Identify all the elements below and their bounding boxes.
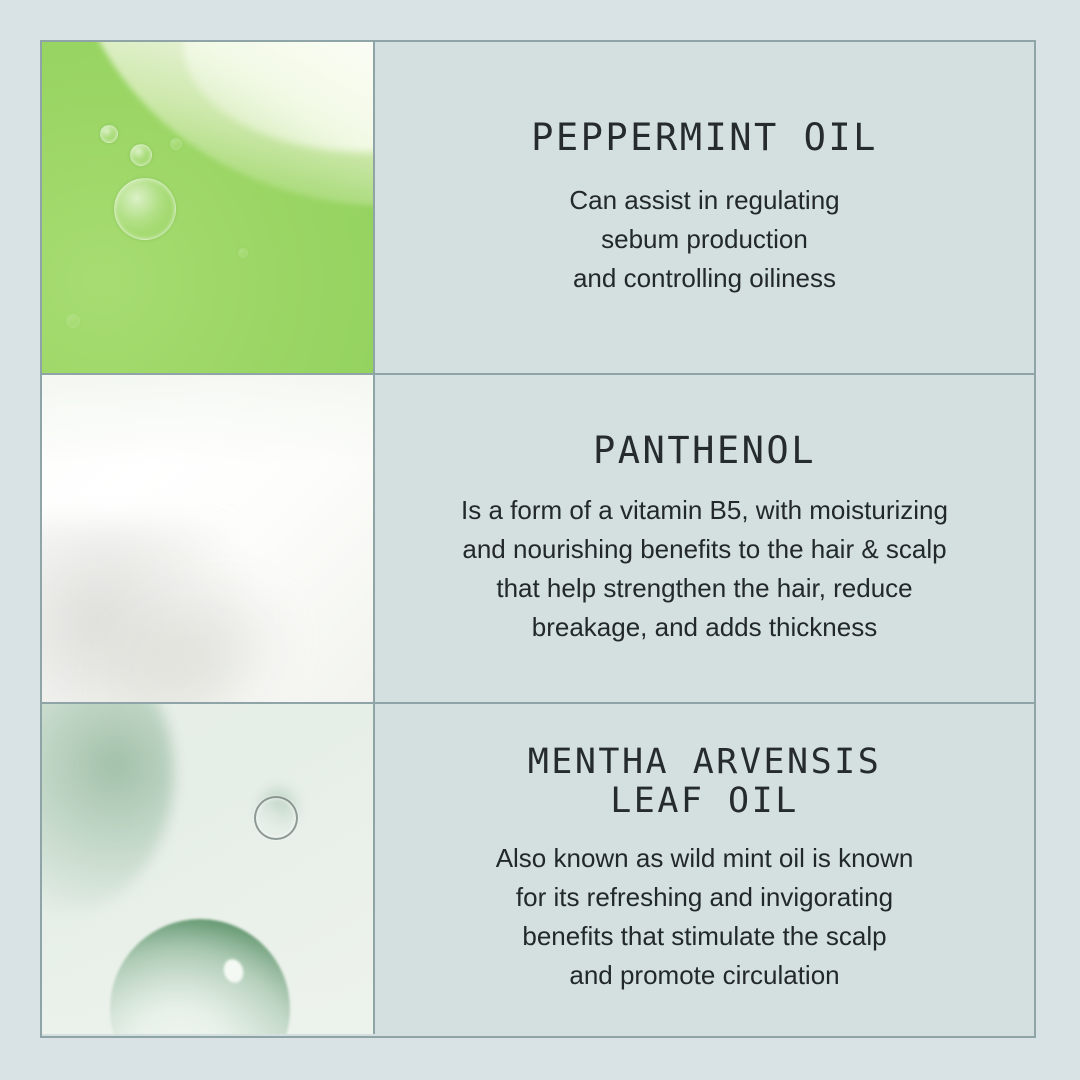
bubble-icon-faint-2: [238, 248, 248, 258]
bubble-icon-small: [100, 125, 118, 143]
ingredient-text-mentha-arvensis-leaf-oil: MENTHA ARVENSIS LEAF OIL Also known as w…: [375, 704, 1034, 1034]
ingredient-description-mentha-arvensis-leaf-oil: Also known as wild mint oil is known for…: [496, 839, 914, 995]
ingredient-title-peppermint-oil: PEPPERMINT OIL: [531, 117, 878, 158]
ingredient-description-panthenol: Is a form of a vitamin B5, with moisturi…: [461, 491, 948, 647]
white-cream-texture: [42, 375, 373, 702]
ingredient-text-peppermint-oil: PEPPERMINT OIL Can assist in regulating …: [375, 42, 1034, 373]
bubble-icon-faint-3: [66, 314, 80, 328]
bubble-icon-faint-1: [170, 138, 182, 150]
bubble-icon-medium: [130, 144, 152, 166]
ingredient-text-panthenol: PANTHENOL Is a form of a vitamin B5, wit…: [375, 375, 1034, 702]
ingredient-image-panthenol: [42, 375, 375, 702]
bubble-icon-large: [114, 178, 176, 240]
ingredient-image-peppermint-oil: [42, 42, 375, 373]
ingredient-infographic: PEPPERMINT OIL Can assist in regulating …: [40, 40, 1036, 1038]
ingredient-image-mentha-arvensis-leaf-oil: [42, 704, 375, 1034]
cream-top-tint-shape: [42, 375, 373, 465]
ingredient-row-peppermint-oil: PEPPERMINT OIL Can assist in regulating …: [42, 42, 1034, 373]
green-gel-texture: [42, 42, 373, 373]
ingredient-title-panthenol: PANTHENOL: [593, 430, 816, 471]
ring-bubble-icon: [254, 796, 298, 840]
sage-bottom-haze-shape: [42, 924, 373, 1034]
ingredient-row-panthenol: PANTHENOL Is a form of a vitamin B5, wit…: [42, 373, 1034, 704]
ingredient-title-mentha-arvensis-leaf-oil: MENTHA ARVENSIS LEAF OIL: [528, 743, 882, 821]
ingredient-description-peppermint-oil: Can assist in regulating sebum productio…: [569, 181, 839, 298]
green-leaf-shape: [42, 704, 174, 912]
ingredient-row-mentha-arvensis-leaf-oil: MENTHA ARVENSIS LEAF OIL Also known as w…: [42, 704, 1034, 1034]
sage-gel-texture: [42, 704, 373, 1034]
